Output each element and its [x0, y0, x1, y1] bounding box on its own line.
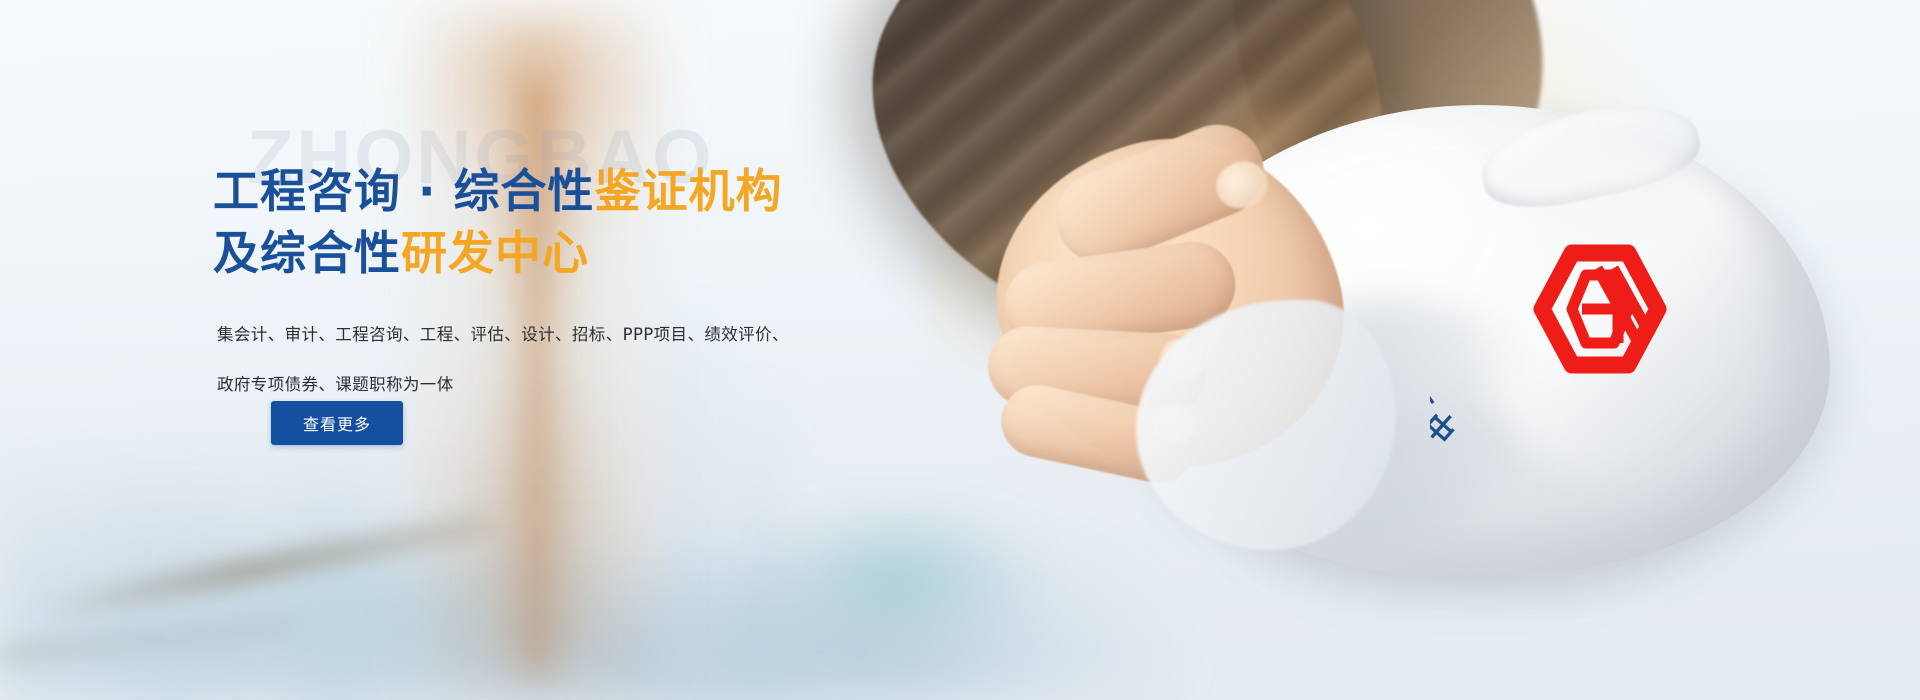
zhongbao-hexagon-logo-icon [1530, 243, 1670, 375]
view-more-button[interactable]: 查看更多 [271, 401, 403, 445]
description: 集会计、审计、工程咨询、工程、评估、设计、招标、PPP项目、绩效评价、 政府专项… [217, 310, 857, 410]
description-line-1: 集会计、审计、工程咨询、工程、评估、设计、招标、PPP项目、绩效评价、 [217, 310, 857, 360]
headline-line-2-primary: 及综合性 [213, 226, 401, 280]
helmet-curved-label: 中宝工程管理 [1430, 231, 1465, 448]
headline-line-2-accent: 研发中心 [401, 226, 589, 280]
headline-line-2: 及综合性研发中心 [213, 222, 933, 284]
headline-line-1: 工程咨询 · 综合性鉴证机构 [213, 160, 933, 222]
hero-content: ZHONGBAO 工程咨询 · 综合性鉴证机构 及综合性研发中心 集会计、审计、… [213, 0, 933, 700]
hero-banner: 中宝工程管理 ZHONGBAO 工程咨询 · 综合性鉴证 [0, 0, 1920, 700]
headline-line-1-accent: 鉴证机构 [595, 164, 783, 218]
svg-text:中宝工程管理: 中宝工程管理 [1430, 231, 1465, 448]
headline-line-1-primary: 工程咨询 · 综合性 [213, 164, 595, 218]
headline: 工程咨询 · 综合性鉴证机构 及综合性研发中心 [213, 160, 933, 284]
